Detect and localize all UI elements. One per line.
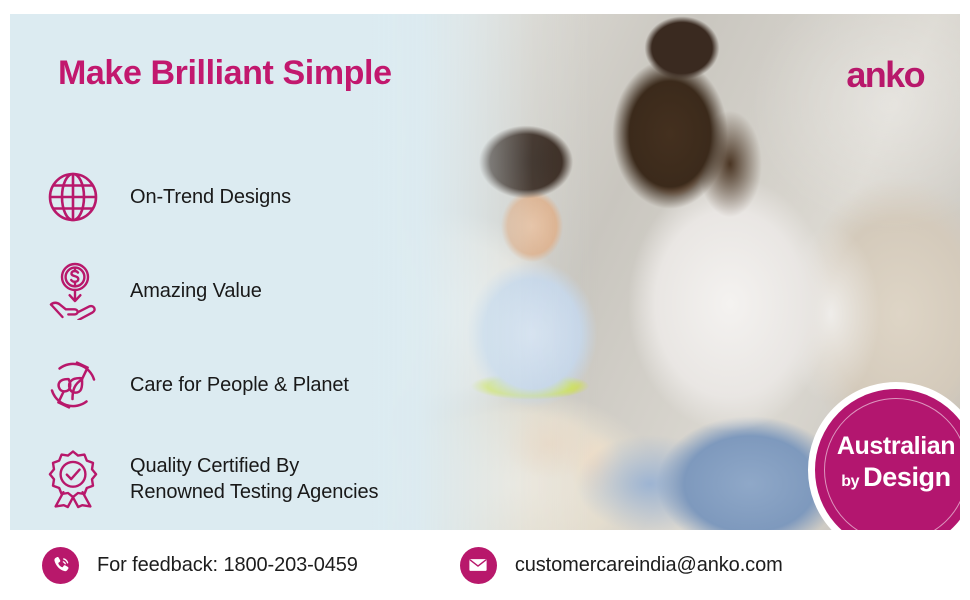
email-text[interactable]: customercareindia@anko.com xyxy=(515,554,783,577)
promo-banner: Make Brilliant Simple anko On-Trend Desi… xyxy=(0,0,970,600)
contact-email[interactable]: customercareindia@anko.com xyxy=(460,547,783,584)
feature-item-on-trend-designs: On-Trend Designs xyxy=(40,150,470,244)
feature-item-amazing-value: Amazing Value xyxy=(40,244,470,338)
badge-line-design: byDesign xyxy=(815,461,960,495)
envelope-icon[interactable] xyxy=(460,547,497,584)
badge-text: Australian byDesign xyxy=(815,433,960,494)
hand-coin-icon xyxy=(40,258,106,324)
feature-label-line-1: Quality Certified By xyxy=(130,455,299,477)
quality-badge-icon xyxy=(40,446,106,512)
feature-item-care-for-people-planet: Care for People & Planet xyxy=(40,338,470,432)
recycle-leaf-icon xyxy=(40,352,106,418)
badge-line-australian: Australian xyxy=(815,433,960,461)
feature-list: On-Trend Designs xyxy=(40,150,470,526)
hero-panel: Make Brilliant Simple anko On-Trend Desi… xyxy=(10,14,960,530)
feature-label-line-2: Renowned Testing Agencies xyxy=(130,481,378,503)
feature-label: Amazing Value xyxy=(130,278,262,304)
badge-by-word: by xyxy=(841,473,859,490)
feature-label: On-Trend Designs xyxy=(130,184,291,210)
anko-logo: anko xyxy=(846,54,924,96)
phone-icon[interactable] xyxy=(42,547,79,584)
globe-icon xyxy=(40,164,106,230)
contact-footer: For feedback: 1800-203-0459 customercare… xyxy=(0,530,970,600)
feature-label: Quality Certified ByRenowned Testing Age… xyxy=(130,453,378,506)
feature-label: Care for People & Planet xyxy=(130,372,349,398)
badge-design-word: Design xyxy=(863,462,951,492)
page-title: Make Brilliant Simple xyxy=(58,54,392,93)
phone-text[interactable]: For feedback: 1800-203-0459 xyxy=(97,554,358,577)
contact-phone[interactable]: For feedback: 1800-203-0459 xyxy=(42,547,358,584)
feature-item-quality-certified: Quality Certified ByRenowned Testing Age… xyxy=(40,432,470,526)
